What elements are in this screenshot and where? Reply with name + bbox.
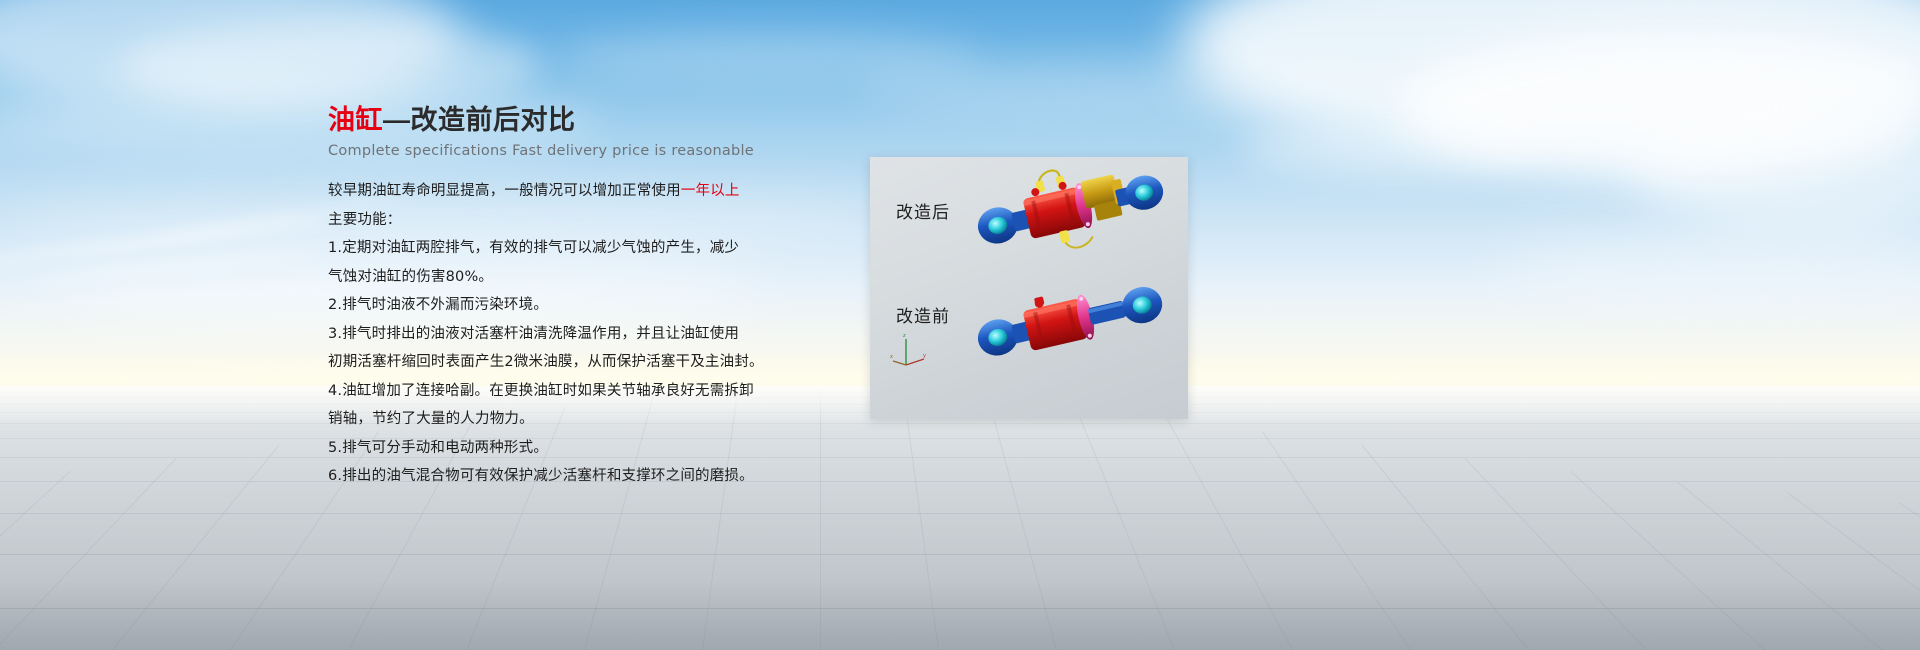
- cylinder-render-before: [970, 275, 1170, 385]
- cloud-shape: [1400, 30, 1920, 180]
- feature-line-text: 3.排气时排出的油液对活塞杆油清洗降温作用，并且让油缸使用: [328, 326, 739, 342]
- feature-line: 6.排出的油气混合物可有效保护减少活塞杆和支撑环之间的磨损。: [328, 464, 748, 490]
- tile-line-horizontal: [0, 513, 1920, 514]
- feature-line-text: 气蚀对油缸的伤害80%。: [328, 269, 493, 285]
- feature-line: 较早期油缸寿命明显提高，一般情况可以增加正常使用一年以上: [328, 179, 748, 205]
- tile-line-horizontal: [0, 554, 1920, 555]
- title-rest: —改造前后对比: [383, 105, 576, 135]
- feature-line-text: 6.排出的油气混合物可有效保护减少活塞杆和支撑环之间的磨损。: [328, 468, 754, 484]
- feature-line: 气蚀对油缸的伤害80%。: [328, 265, 748, 291]
- feature-line: 5.排气可分手动和电动两种形式。: [328, 436, 748, 462]
- cloud-shape: [1630, 110, 1920, 230]
- cylinder-render-after: [970, 163, 1170, 273]
- feature-line: 3.排气时排出的油液对活塞杆油清洗降温作用，并且让油缸使用: [328, 322, 748, 348]
- comparison-image-panel: 改造后 改造前: [870, 157, 1188, 419]
- title-highlight: 油缸: [328, 105, 383, 135]
- tile-line-horizontal: [0, 481, 1920, 482]
- axis-triad-icon: z x y: [890, 331, 930, 371]
- feature-list: 较早期油缸寿命明显提高，一般情况可以增加正常使用一年以上主要功能：1.定期对油缸…: [328, 179, 748, 490]
- feature-line: 4.油缸增加了连接哈副。在更换油缸时如果关节轴承良好无需拆卸: [328, 379, 748, 405]
- cloud-shape: [860, 60, 1380, 120]
- feature-line: 销轴，节约了大量的人力物力。: [328, 407, 748, 433]
- cloud-shape: [120, 20, 540, 110]
- feature-line: 主要功能：: [328, 208, 748, 234]
- ground-plane: [0, 386, 1920, 650]
- cloud-shape: [1180, 0, 1920, 160]
- feature-line-text: 较早期油缸寿命明显提高，一般情况可以增加正常使用: [328, 183, 681, 199]
- cloud-shape: [0, 0, 460, 110]
- feature-line-text: 销轴，节约了大量的人力物力。: [328, 411, 534, 427]
- svg-text:y: y: [923, 353, 926, 359]
- cloud-shape: [560, 30, 980, 80]
- ground-shadow: [0, 580, 1920, 650]
- label-after-modification: 改造后: [896, 198, 950, 223]
- feature-line: 1.定期对油缸两腔排气，有效的排气可以减少气蚀的产生，减少: [328, 236, 748, 262]
- feature-line-text: 5.排气可分手动和电动两种形式。: [328, 440, 548, 456]
- hydraulic-cylinder-before-illustration: [970, 275, 1170, 385]
- svg-text:z: z: [903, 333, 906, 339]
- page-title: 油缸—改造前后对比: [328, 104, 748, 136]
- feature-line-text: 4.油缸增加了连接哈副。在更换油缸时如果关节轴承良好无需拆卸: [328, 383, 754, 399]
- feature-line: 2.排气时油液不外漏而污染环境。: [328, 293, 748, 319]
- hero-banner: 油缸—改造前后对比 Complete specifications Fast d…: [0, 0, 1920, 650]
- cloud-shape: [1240, 120, 1540, 180]
- feature-line-text: 初期活塞杆缩回时表面产生2微米油膜，从而保护活塞干及主油封。: [328, 354, 764, 370]
- tile-line-horizontal: [0, 438, 1920, 439]
- cloud-wisp: [0, 214, 329, 269]
- feature-line-text: 1.定期对油缸两腔排气，有效的排气可以减少气蚀的产生，减少: [328, 240, 739, 256]
- feature-line-text: 主要功能：: [328, 212, 402, 228]
- svg-text:x: x: [890, 354, 893, 360]
- feature-line: 初期活塞杆缩回时表面产生2微米油膜，从而保护活塞干及主油封。: [328, 350, 748, 376]
- text-content: 油缸—改造前后对比 Complete specifications Fast d…: [328, 104, 748, 493]
- cloud-shape: [1500, 230, 1920, 300]
- tile-line-horizontal: [0, 457, 1920, 458]
- hydraulic-cylinder-after-illustration: [970, 163, 1170, 273]
- feature-line-text: 2.排气时油液不外漏而污染环境。: [328, 297, 548, 313]
- page-subtitle: Complete specifications Fast delivery pr…: [328, 143, 748, 159]
- label-before-modification: 改造前: [896, 302, 950, 327]
- feature-line-highlight: 一年以上: [681, 183, 740, 199]
